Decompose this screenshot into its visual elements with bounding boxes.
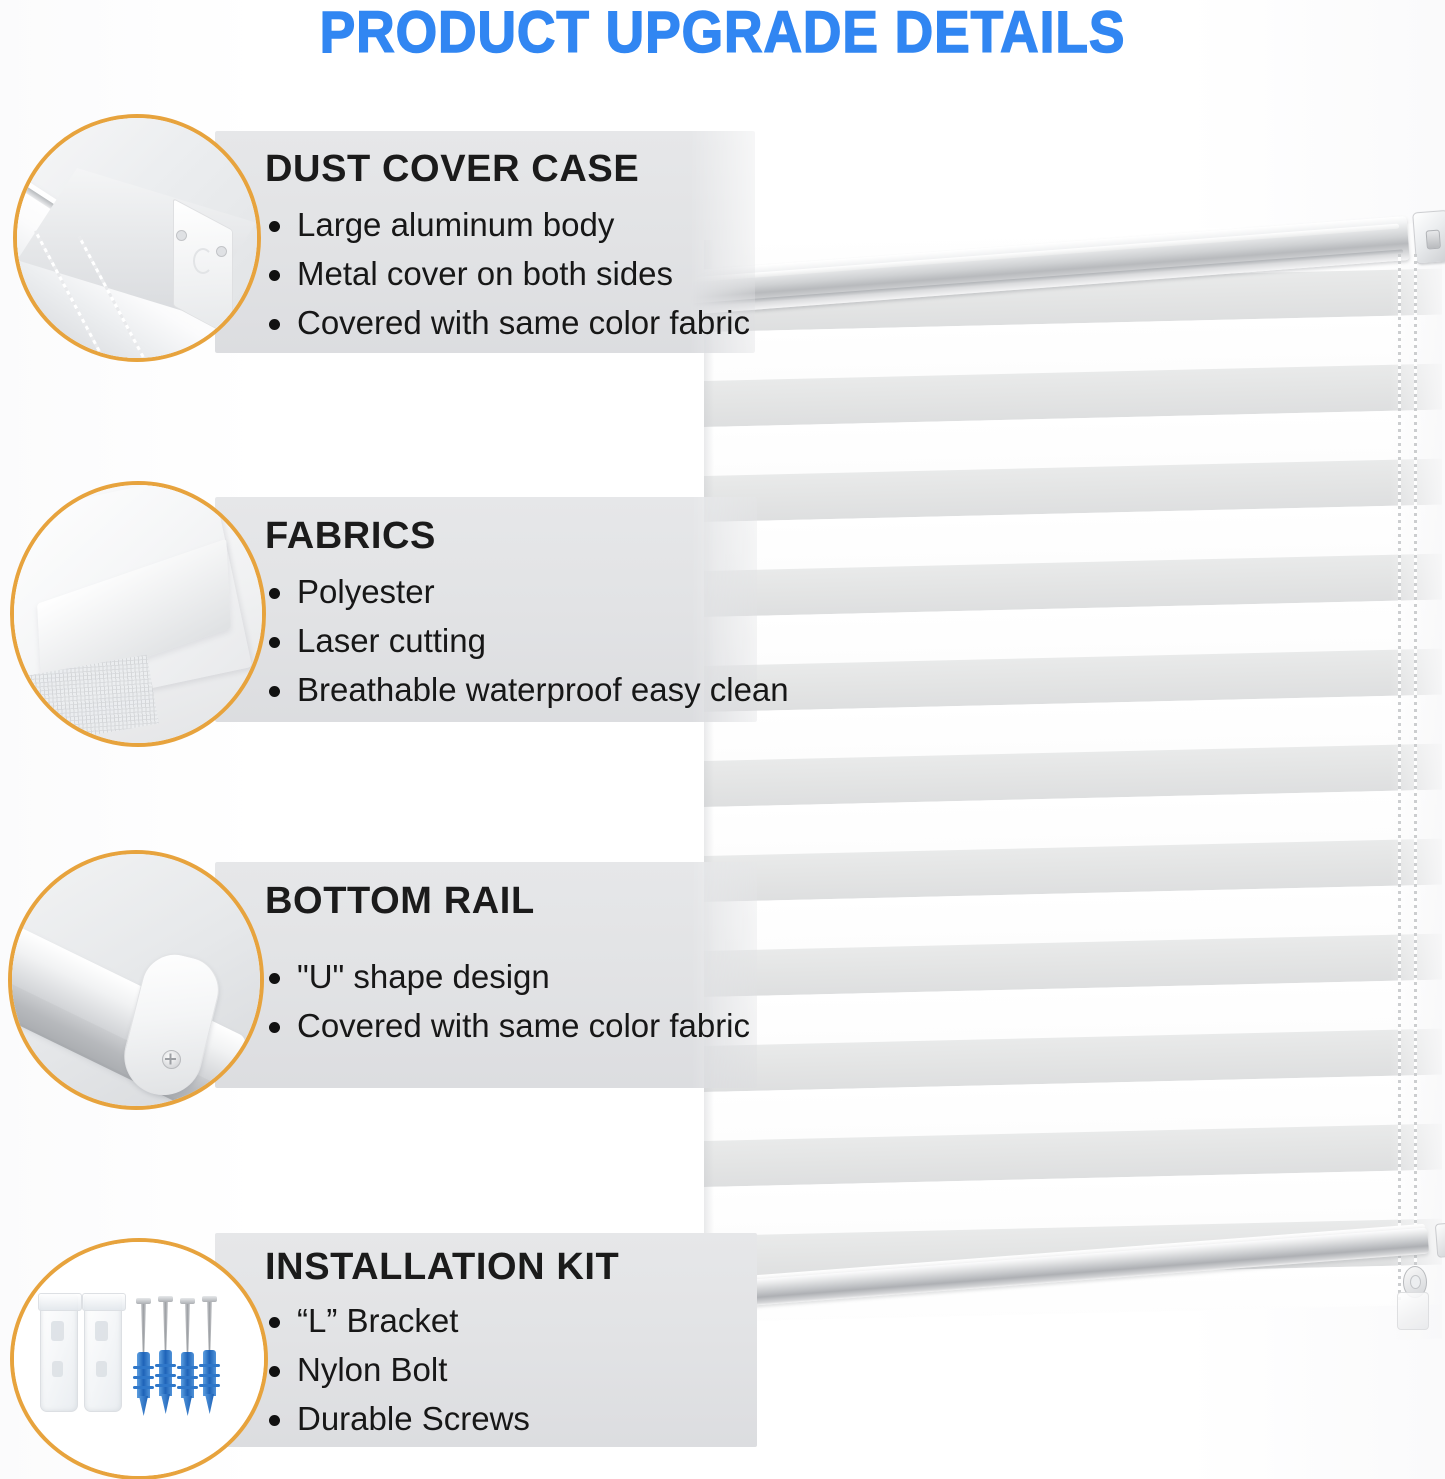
list-item: Covered with same color fabric [265,1001,750,1050]
chain-clutch-icon [1426,230,1441,250]
list-item: Nylon Bolt [265,1345,619,1394]
bead-chain-control[interactable] [1395,254,1425,1330]
product-image-zebra-roller-blind [690,180,1445,1350]
feature-bullets-installation-kit: “L” Bracket Nylon Bolt Durable Screws [265,1296,619,1443]
feature-photo-bottom-rail-closeup [8,850,264,1110]
bottom-rail-end-cap [1435,1222,1445,1258]
screw-icon [206,1296,213,1358]
blind-fabric [704,223,1442,1322]
nylon-anchor-icon [159,1350,172,1414]
feature-photo-fabric-closeup [10,481,266,747]
list-item: Covered with same color fabric [265,298,750,347]
fabric-left-shadow [704,240,714,1322]
list-item: Durable Screws [265,1394,619,1443]
screw-icon [140,1298,147,1360]
feature-bullets-fabrics: Polyester Laser cutting Breathable water… [265,567,789,714]
feature-bullets-dust-cover-case: Large aluminum body Metal cover on both … [265,200,750,347]
nylon-anchor-icon [137,1352,150,1416]
list-item: Laser cutting [265,616,789,665]
nylon-anchor-icon [203,1350,216,1414]
list-item: "U" shape design [265,952,750,1001]
infographic-canvas: PRODUCT UPGRADE DETAILS [0,0,1445,1479]
feature-heading-installation-kit: INSTALLATION KIT [265,1246,619,1288]
l-bracket-icon [40,1294,78,1412]
list-item: Polyester [265,567,789,616]
chain-tensioner-icon [1397,1292,1429,1330]
feature-photo-installation-kit [10,1238,268,1479]
feature-photo-headrail-closeup [13,114,261,362]
feature-heading-dust-cover-case: DUST COVER CASE [265,148,750,190]
page-title: PRODUCT UPGRADE DETAILS [58,2,1387,64]
list-item: “L” Bracket [265,1296,619,1345]
feature-heading-fabrics: FABRICS [265,515,789,557]
list-item: Large aluminum body [265,200,750,249]
nylon-anchor-icon [181,1352,194,1416]
feature-bullets-bottom-rail: "U" shape design Covered with same color… [265,952,750,1050]
list-item: Breathable waterproof easy clean [265,665,789,714]
feature-heading-bottom-rail: BOTTOM RAIL [265,880,750,922]
screw-icon [184,1298,191,1360]
l-bracket-icon [84,1294,122,1412]
list-item: Metal cover on both sides [265,249,750,298]
screw-icon [162,1296,169,1358]
